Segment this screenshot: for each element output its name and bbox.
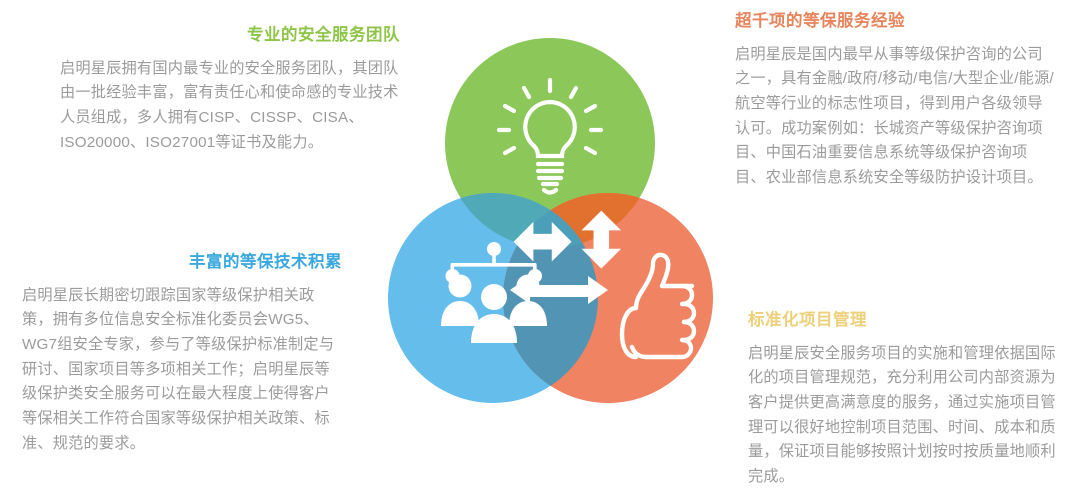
text-block-experience: 超千项的等保服务经验 启明星辰是国内最早从事等级保护咨询的公司之一，具有金融/政… (735, 12, 1055, 191)
heading-technology: 丰富的等保技术积累 (22, 253, 342, 273)
infographic-canvas: 专业的安全服务团队 启明星辰拥有国内最专业的安全服务团队，其团队由一批经验丰富，… (0, 0, 1080, 497)
text-block-management: 标准化项目管理 启明星辰安全服务项目的实施和管理依据国际化的项目管理规范，充分利… (748, 311, 1068, 490)
body-experience: 启明星辰是国内最早从事等级保护咨询的公司之一，具有金融/政府/移动/电信/大型企… (735, 43, 1055, 191)
venn-diagram (340, 20, 760, 440)
text-block-technology: 丰富的等保技术积累 启明星辰长期密切跟踪国家等级保护相关政策，拥有多位信息安全标… (22, 253, 342, 456)
body-technology: 启明星辰长期密切跟踪国家等级保护相关政策，拥有多位信息安全标准化委员会WG5、W… (22, 284, 342, 456)
heading-management: 标准化项目管理 (748, 311, 1068, 331)
body-management: 启明星辰安全服务项目的实施和管理依据国际化的项目管理规范，充分利用公司内部资源为… (748, 342, 1068, 490)
heading-experience: 超千项的等保服务经验 (735, 12, 1055, 32)
